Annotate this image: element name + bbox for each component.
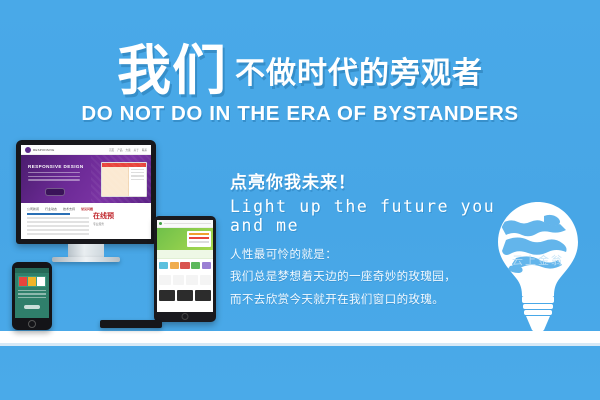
hero-screenshot-bar	[102, 163, 146, 167]
nav-link[interactable]: 关于	[134, 148, 139, 152]
shelf-edge	[0, 343, 600, 346]
phone-screen	[15, 268, 49, 318]
lightbulb-world-icon: 云上金翁	[486, 196, 590, 344]
site-navbar: RESPONSIVE 首页 产品 方案 关于 联系	[21, 145, 151, 155]
headline-main: 我们不做时代的旁观者	[117, 44, 483, 98]
hero-screenshot-body	[102, 167, 146, 196]
nav-link[interactable]: 方案	[125, 148, 130, 152]
copy-body-line: 我们总是梦想着天边的一座奇妙的玫瑰园，	[230, 269, 530, 286]
keyboard-slab	[100, 320, 162, 328]
site-hero: RESPONSIVE DESIGN	[21, 155, 151, 203]
imac-bezel: RESPONSIVE 首页 产品 方案 关于 联系 RESPONSIVE DES…	[16, 140, 156, 244]
copy-title-cn: 点亮你我未来！	[230, 168, 530, 193]
tablet-hero-card	[187, 231, 211, 247]
site-promo: 在线预 专业服务	[89, 213, 145, 237]
site-nav-links: 首页 产品 方案 关于 联系	[109, 148, 147, 152]
hero-text-lines	[28, 172, 80, 183]
phone-cta-button[interactable]	[24, 305, 40, 309]
tablet-hero	[157, 228, 213, 250]
tab-item-active[interactable]: 常见问题	[81, 207, 93, 211]
phone-statusbar	[15, 268, 49, 273]
nav-link[interactable]: 产品	[117, 148, 122, 152]
site-lower-section: 在线预 专业服务	[21, 213, 151, 237]
promo-subtext: 专业服务	[93, 222, 145, 226]
hero-title: RESPONSIVE DESIGN	[28, 164, 84, 169]
phone-text-lines	[15, 287, 49, 303]
tab-item[interactable]: 公司新闻	[27, 207, 39, 211]
site-news-list	[27, 213, 89, 237]
tablet-box-row	[157, 288, 213, 303]
site-tabs: 公司新闻 行业动态 技术支持 常见问题	[21, 203, 151, 213]
phone-home-button[interactable]	[28, 320, 36, 328]
device-cluster: RESPONSIVE 首页 产品 方案 关于 联系 RESPONSIVE DES…	[8, 140, 223, 335]
copy-body-line: 而不去欣赏今天就开在我们窗口的玫瑰。	[230, 292, 530, 309]
headline-cn-large: 我们	[117, 41, 227, 101]
headline-subtitle-en: DO NOT DO IN THE ERA OF BYSTANDERS	[0, 102, 600, 126]
copy-subtitle-en: Light up the future you and me	[230, 197, 530, 235]
tablet-icon-row	[157, 272, 213, 288]
tablet-screen	[157, 220, 213, 312]
phone-banner-card	[18, 276, 46, 287]
promo-headline: 在线预	[93, 213, 145, 220]
site-logo-text: RESPONSIVE	[33, 148, 55, 152]
tab-item[interactable]: 行业动态	[45, 207, 57, 211]
tablet-device	[154, 216, 216, 322]
hero-screenshot-left	[102, 167, 129, 196]
tab-item[interactable]: 技术支持	[63, 207, 75, 211]
site-logo-icon	[25, 147, 31, 153]
imac-stand-foot	[52, 257, 120, 262]
imac-screen: RESPONSIVE 首页 产品 方案 关于 联系 RESPONSIVE DES…	[21, 145, 151, 239]
hero-cta-button[interactable]	[45, 188, 65, 196]
headline-cn-small: 不做时代的旁观者	[235, 57, 483, 90]
headline-block: 我们不做时代的旁观者 DO NOT DO IN THE ERA OF BYSTA…	[0, 44, 600, 126]
imac-device: RESPONSIVE 首页 产品 方案 关于 联系 RESPONSIVE DES…	[16, 140, 156, 262]
tablet-chip-row	[157, 259, 213, 272]
hero-screenshot-right	[129, 167, 146, 196]
copy-block: 点亮你我未来！ Light up the future you and me 人…	[230, 168, 530, 314]
phone-device	[12, 262, 52, 330]
copy-body: 人性最可怜的就是： 我们总是梦想着天边的一座奇妙的玫瑰园， 而不去欣赏今天就开在…	[230, 247, 530, 309]
nav-link[interactable]: 首页	[109, 148, 114, 152]
nav-link[interactable]: 联系	[142, 148, 147, 152]
imac-stand-neck	[68, 244, 104, 258]
tablet-navbar	[157, 220, 213, 228]
tablet-band	[157, 250, 213, 259]
promo-banner: 我们不做时代的旁观者 DO NOT DO IN THE ERA OF BYSTA…	[0, 0, 600, 400]
hero-screenshot	[101, 162, 147, 197]
tablet-home-button[interactable]	[182, 313, 189, 320]
copy-body-line: 人性最可怜的就是：	[230, 247, 530, 264]
